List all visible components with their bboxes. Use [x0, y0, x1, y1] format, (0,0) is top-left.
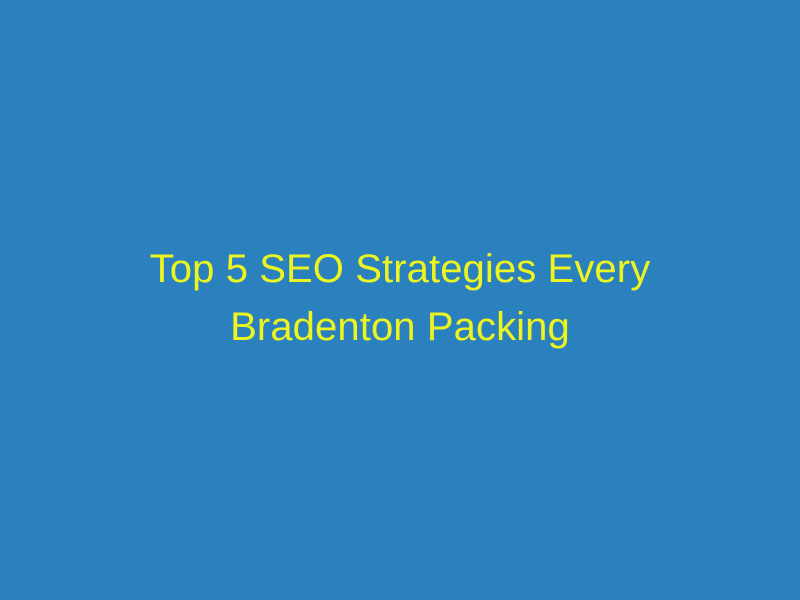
title-line-2: Bradenton Packing — [60, 298, 740, 356]
title-line-1: Top 5 SEO Strategies Every — [60, 240, 740, 298]
article-title-card: Top 5 SEO Strategies Every Bradenton Pac… — [0, 0, 800, 600]
title-block: Top 5 SEO Strategies Every Bradenton Pac… — [0, 240, 800, 356]
